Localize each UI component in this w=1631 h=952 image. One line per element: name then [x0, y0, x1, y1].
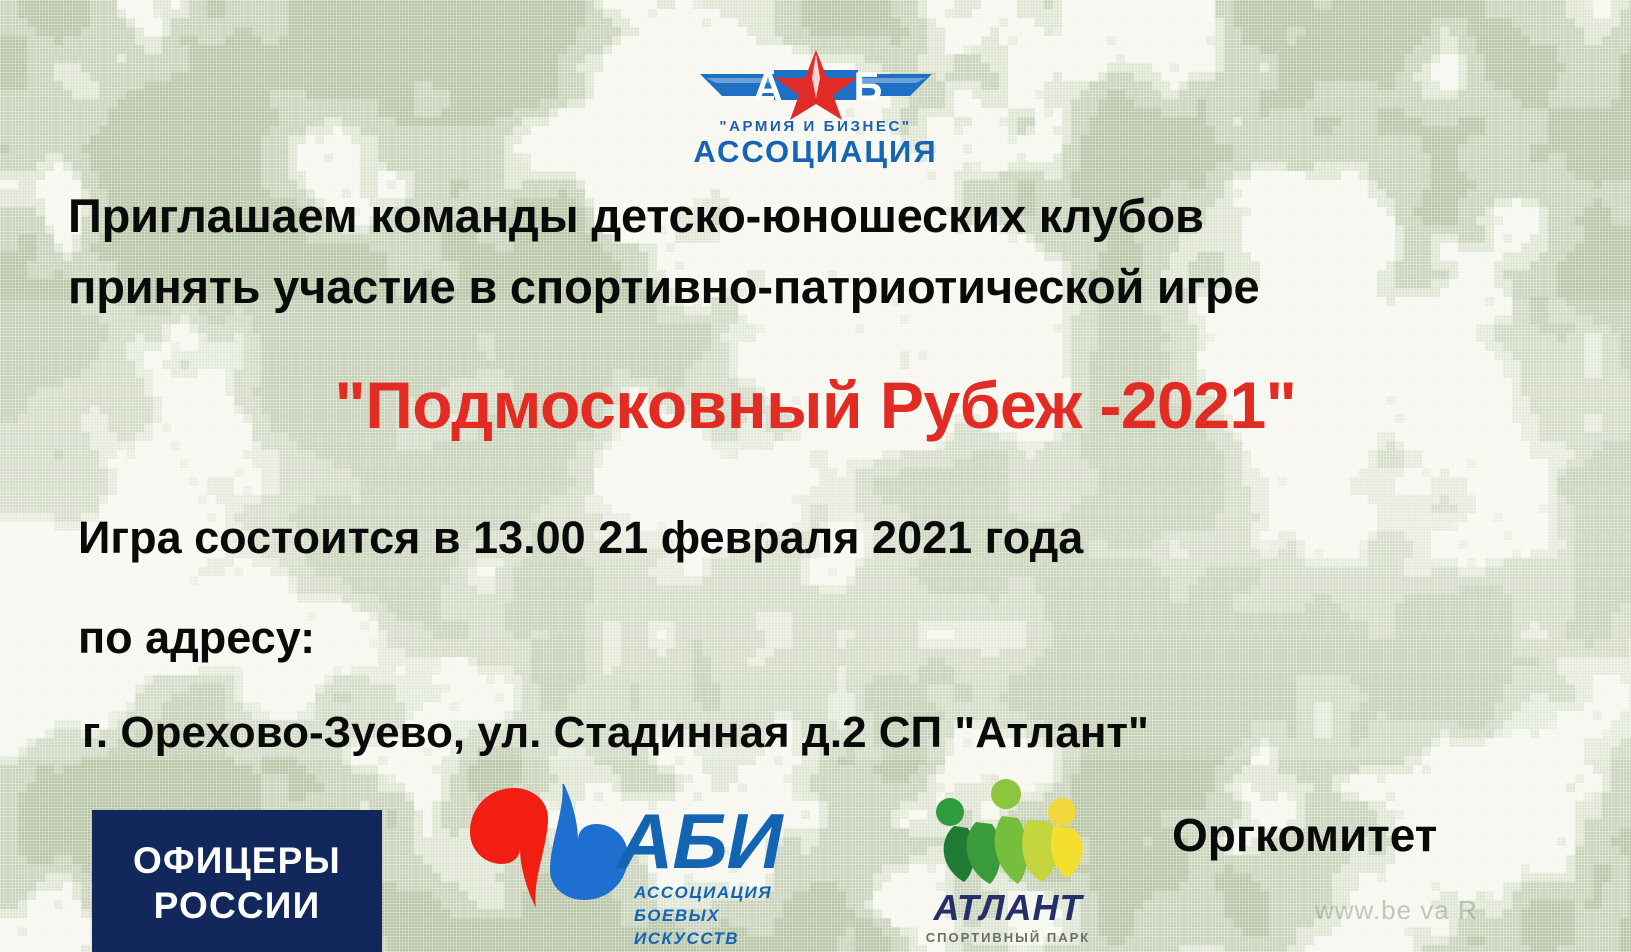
ab-logo-slogan: "АРМИЯ И БИЗНЕС"	[719, 118, 911, 135]
abi-wordmark: АБИ	[617, 802, 782, 880]
abi-subtitle-line-1: АССОЦИАЦИЯ	[634, 882, 822, 905]
headline-line-2: принять участие в спортивно-патриотическ…	[68, 257, 1591, 316]
atlant-petal-people-icon	[914, 778, 1102, 895]
svg-text:А: А	[753, 65, 782, 109]
atlant-sport-park-logo: АТЛАНТ СПОРТИВНЫЙ ПАРК	[908, 778, 1108, 952]
source-watermark: www.be va R	[1315, 895, 1478, 926]
ab-association-logo: А Б "АРМИЯ И БИЗНЕС" АССОЦИАЦИЯ	[0, 48, 1631, 167]
officers-badge-line-1: ОФИЦЕРЫ	[133, 838, 341, 883]
officers-of-russia-badge: ОФИЦЕРЫ РОССИИ	[92, 810, 382, 952]
abi-martial-arts-logo: АБИ АССОЦИАЦИЯ БОЕВЫХ ИСКУССТВ	[462, 782, 822, 952]
abi-subtitle: АССОЦИАЦИЯ БОЕВЫХ ИСКУССТВ	[634, 882, 822, 951]
abi-subtitle-line-2: БОЕВЫХ ИСКУССТВ	[634, 905, 822, 951]
officers-badge-line-2: РОССИИ	[154, 883, 321, 928]
address-value: г. Орехово-Зуево, ул. Стадинная д.2 СП "…	[82, 708, 1149, 758]
svg-text:Б: Б	[853, 65, 882, 109]
poster-canvas: А Б "АРМИЯ И БИЗНЕС" АССОЦИАЦИЯ Приглаша…	[0, 0, 1631, 952]
invitation-headline: Приглашаем команды детско-юношеских клуб…	[68, 186, 1591, 316]
organizing-committee-label: Оргкомитет	[1172, 808, 1437, 862]
ab-logo-association-word: АССОЦИАЦИЯ	[693, 136, 937, 167]
atlant-wordmark: АТЛАНТ	[908, 890, 1108, 926]
event-title: "Подмосковный Рубеж -2021"	[0, 372, 1631, 438]
ab-wings-star-icon: А Б	[696, 48, 936, 120]
headline-line-1: Приглашаем команды детско-юношеских клуб…	[68, 186, 1591, 245]
atlant-subtitle: СПОРТИВНЫЙ ПАРК	[908, 930, 1108, 945]
address-label: по адресу:	[78, 612, 315, 664]
event-datetime: Игра состоится в 13.00 21 февраля 2021 г…	[78, 512, 1083, 564]
